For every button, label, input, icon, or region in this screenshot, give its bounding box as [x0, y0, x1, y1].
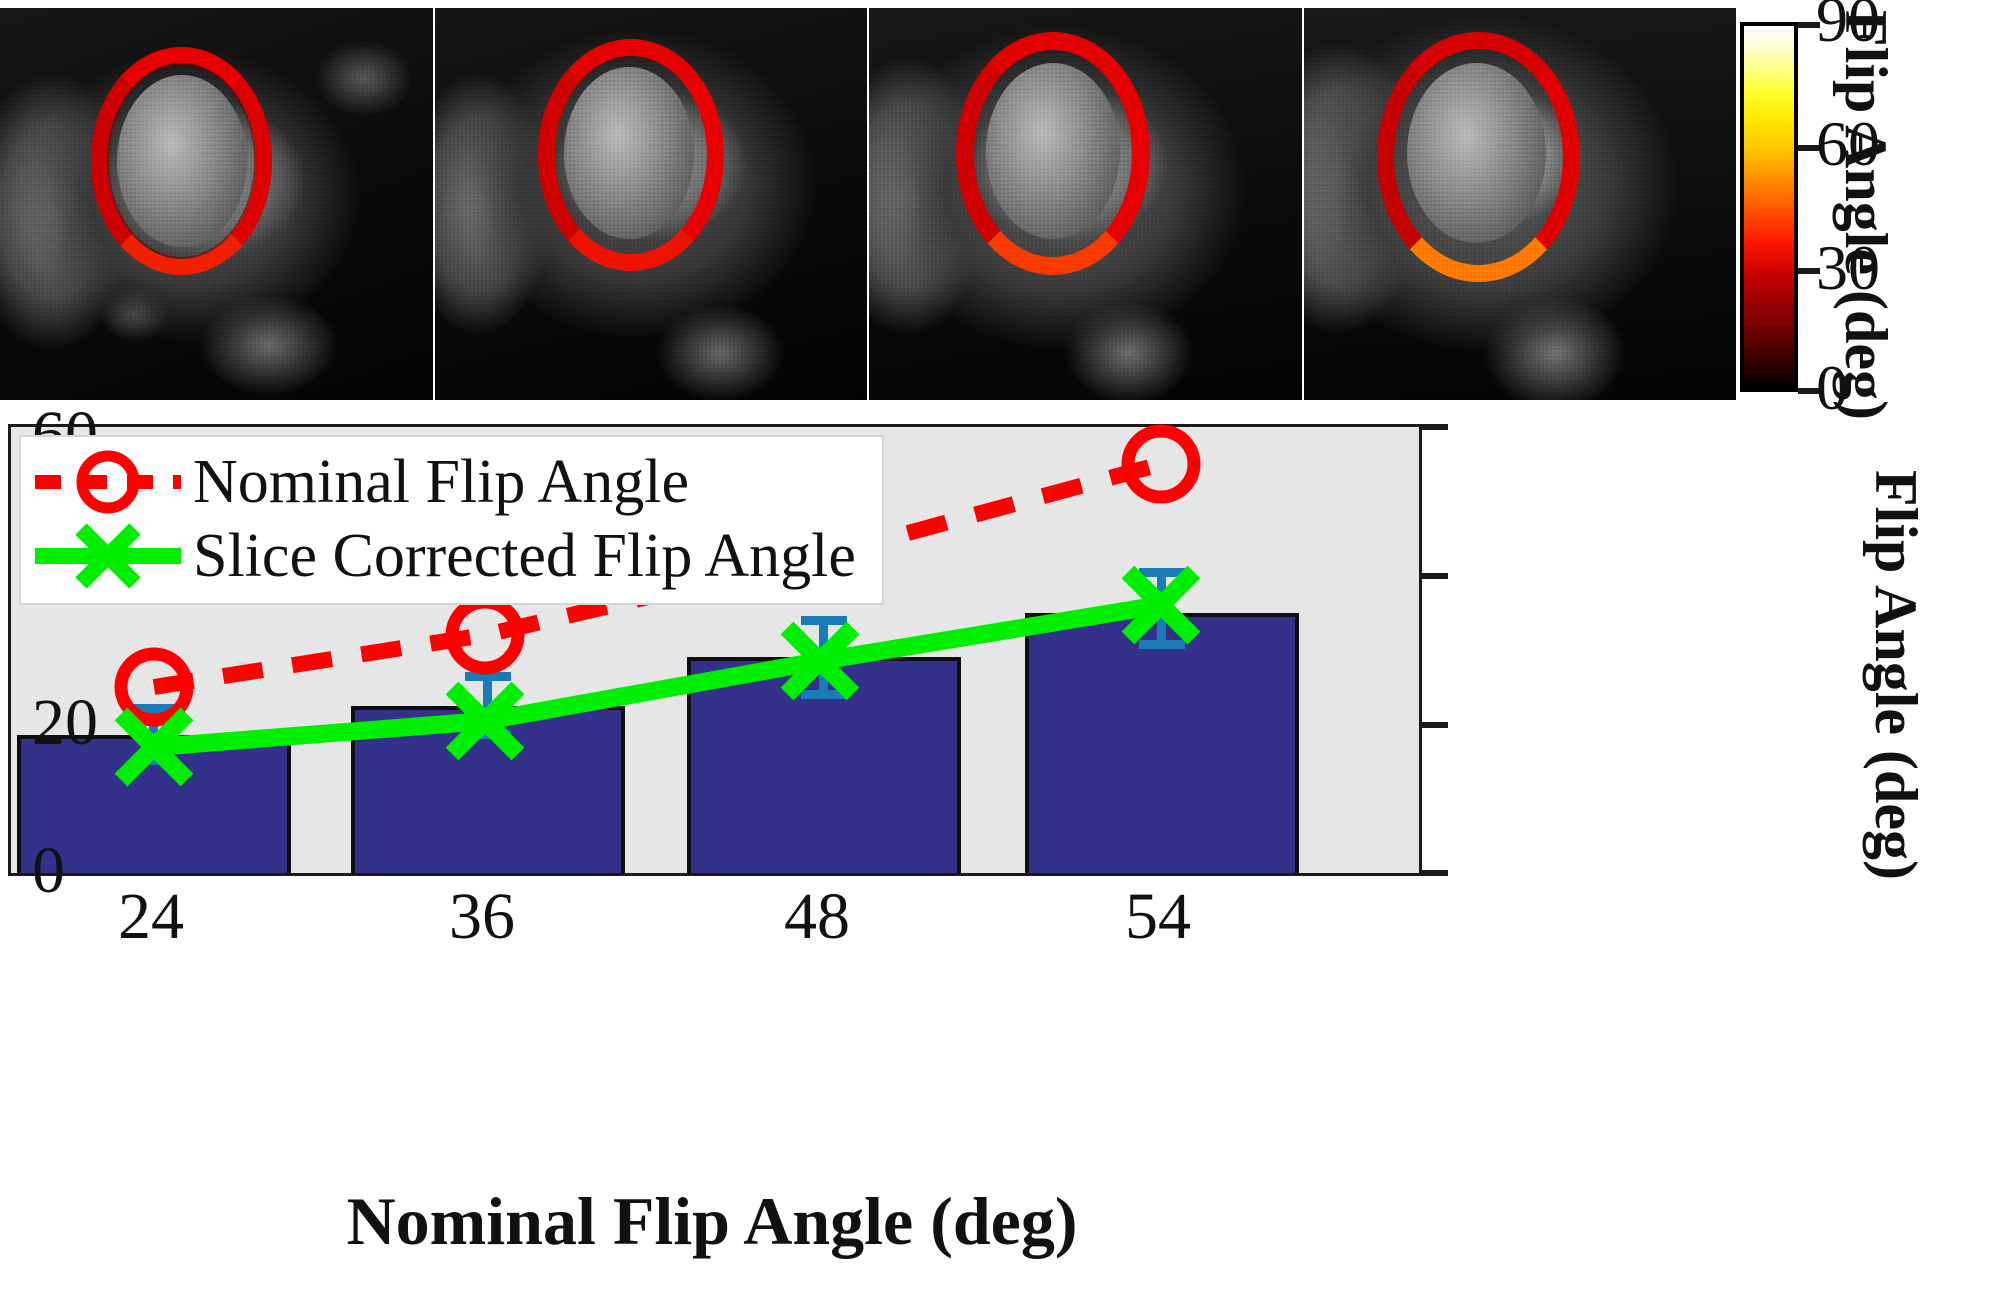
chart-legend: Nominal Flip Angle Slice Corrected Flip …: [19, 435, 884, 605]
legend-item-slice-corrected[interactable]: Slice Corrected Flip Angle: [33, 519, 856, 593]
mri-tile-2: [435, 8, 870, 400]
mri-noise-2: [435, 8, 868, 400]
colorbar-axis-title: Flip Angle (deg): [1831, 10, 1900, 410]
bar-54[interactable]: [1025, 613, 1299, 873]
errorbar-cap-bottom-54: [1139, 640, 1185, 649]
flip-angle-bar-chart: Nominal Flip Angle Slice Corrected Flip …: [8, 424, 1422, 876]
mri-montage: [0, 8, 1736, 400]
legend-label-nominal: Nominal Flip Angle: [193, 451, 689, 513]
errorbar-cap-bottom-48: [801, 690, 847, 699]
legend-key-slice-corrected-icon: [33, 519, 183, 593]
errorbar-cap-bottom-36: [465, 730, 511, 739]
y-label-20: 20: [32, 690, 98, 756]
x-tick-label-36: 36: [449, 884, 515, 950]
plot-area: Nominal Flip Angle Slice Corrected Flip …: [8, 424, 1422, 876]
y-tick-0: [1422, 870, 1448, 876]
errorbar-cap-bottom-24: [131, 756, 177, 765]
y-tick-60: [1422, 424, 1448, 430]
mri-tile-3: [869, 8, 1304, 400]
mri-tile-1: [0, 8, 435, 400]
legend-item-nominal[interactable]: Nominal Flip Angle: [33, 445, 856, 519]
errorbar-stem-54: [1157, 573, 1166, 645]
figure-root: 90 60 30 0 Flip Angle (deg): [0, 0, 1989, 1302]
colorbar-gradient: [1740, 22, 1798, 392]
x-tick-label-54: 54: [1125, 884, 1191, 950]
errorbar-cap-top-36: [465, 672, 511, 681]
mri-tile-4: [1304, 8, 1737, 400]
x-axis-title: Nominal Flip Angle (deg): [346, 1182, 1077, 1261]
errorbar-cap-top-48: [801, 616, 847, 625]
errorbar-cap-top-24: [131, 704, 177, 713]
mri-noise-3: [869, 8, 1302, 400]
errorbar-stem-36: [483, 677, 492, 735]
x-tick-label-48: 48: [784, 884, 850, 950]
y-axis-title: Flip Angle (deg): [1861, 470, 1930, 880]
errorbar-stem-48: [819, 621, 828, 695]
mri-noise-1: [0, 8, 433, 400]
legend-key-nominal-icon: [33, 445, 183, 519]
y-tick-20: [1422, 722, 1448, 728]
errorbar-stem-24: [149, 709, 158, 761]
y-label-0: 0: [32, 838, 65, 904]
errorbar-cap-top-54: [1139, 568, 1185, 577]
mri-noise-4: [1304, 8, 1737, 400]
x-tick-label-24: 24: [118, 884, 184, 950]
slice-corrected-flip-angle-line: [154, 605, 1161, 747]
y-tick-40: [1422, 573, 1448, 579]
y-axis-right: [1422, 424, 1542, 876]
legend-label-slice-corrected: Slice Corrected Flip Angle: [193, 525, 856, 587]
colorbar: [1740, 22, 1798, 392]
